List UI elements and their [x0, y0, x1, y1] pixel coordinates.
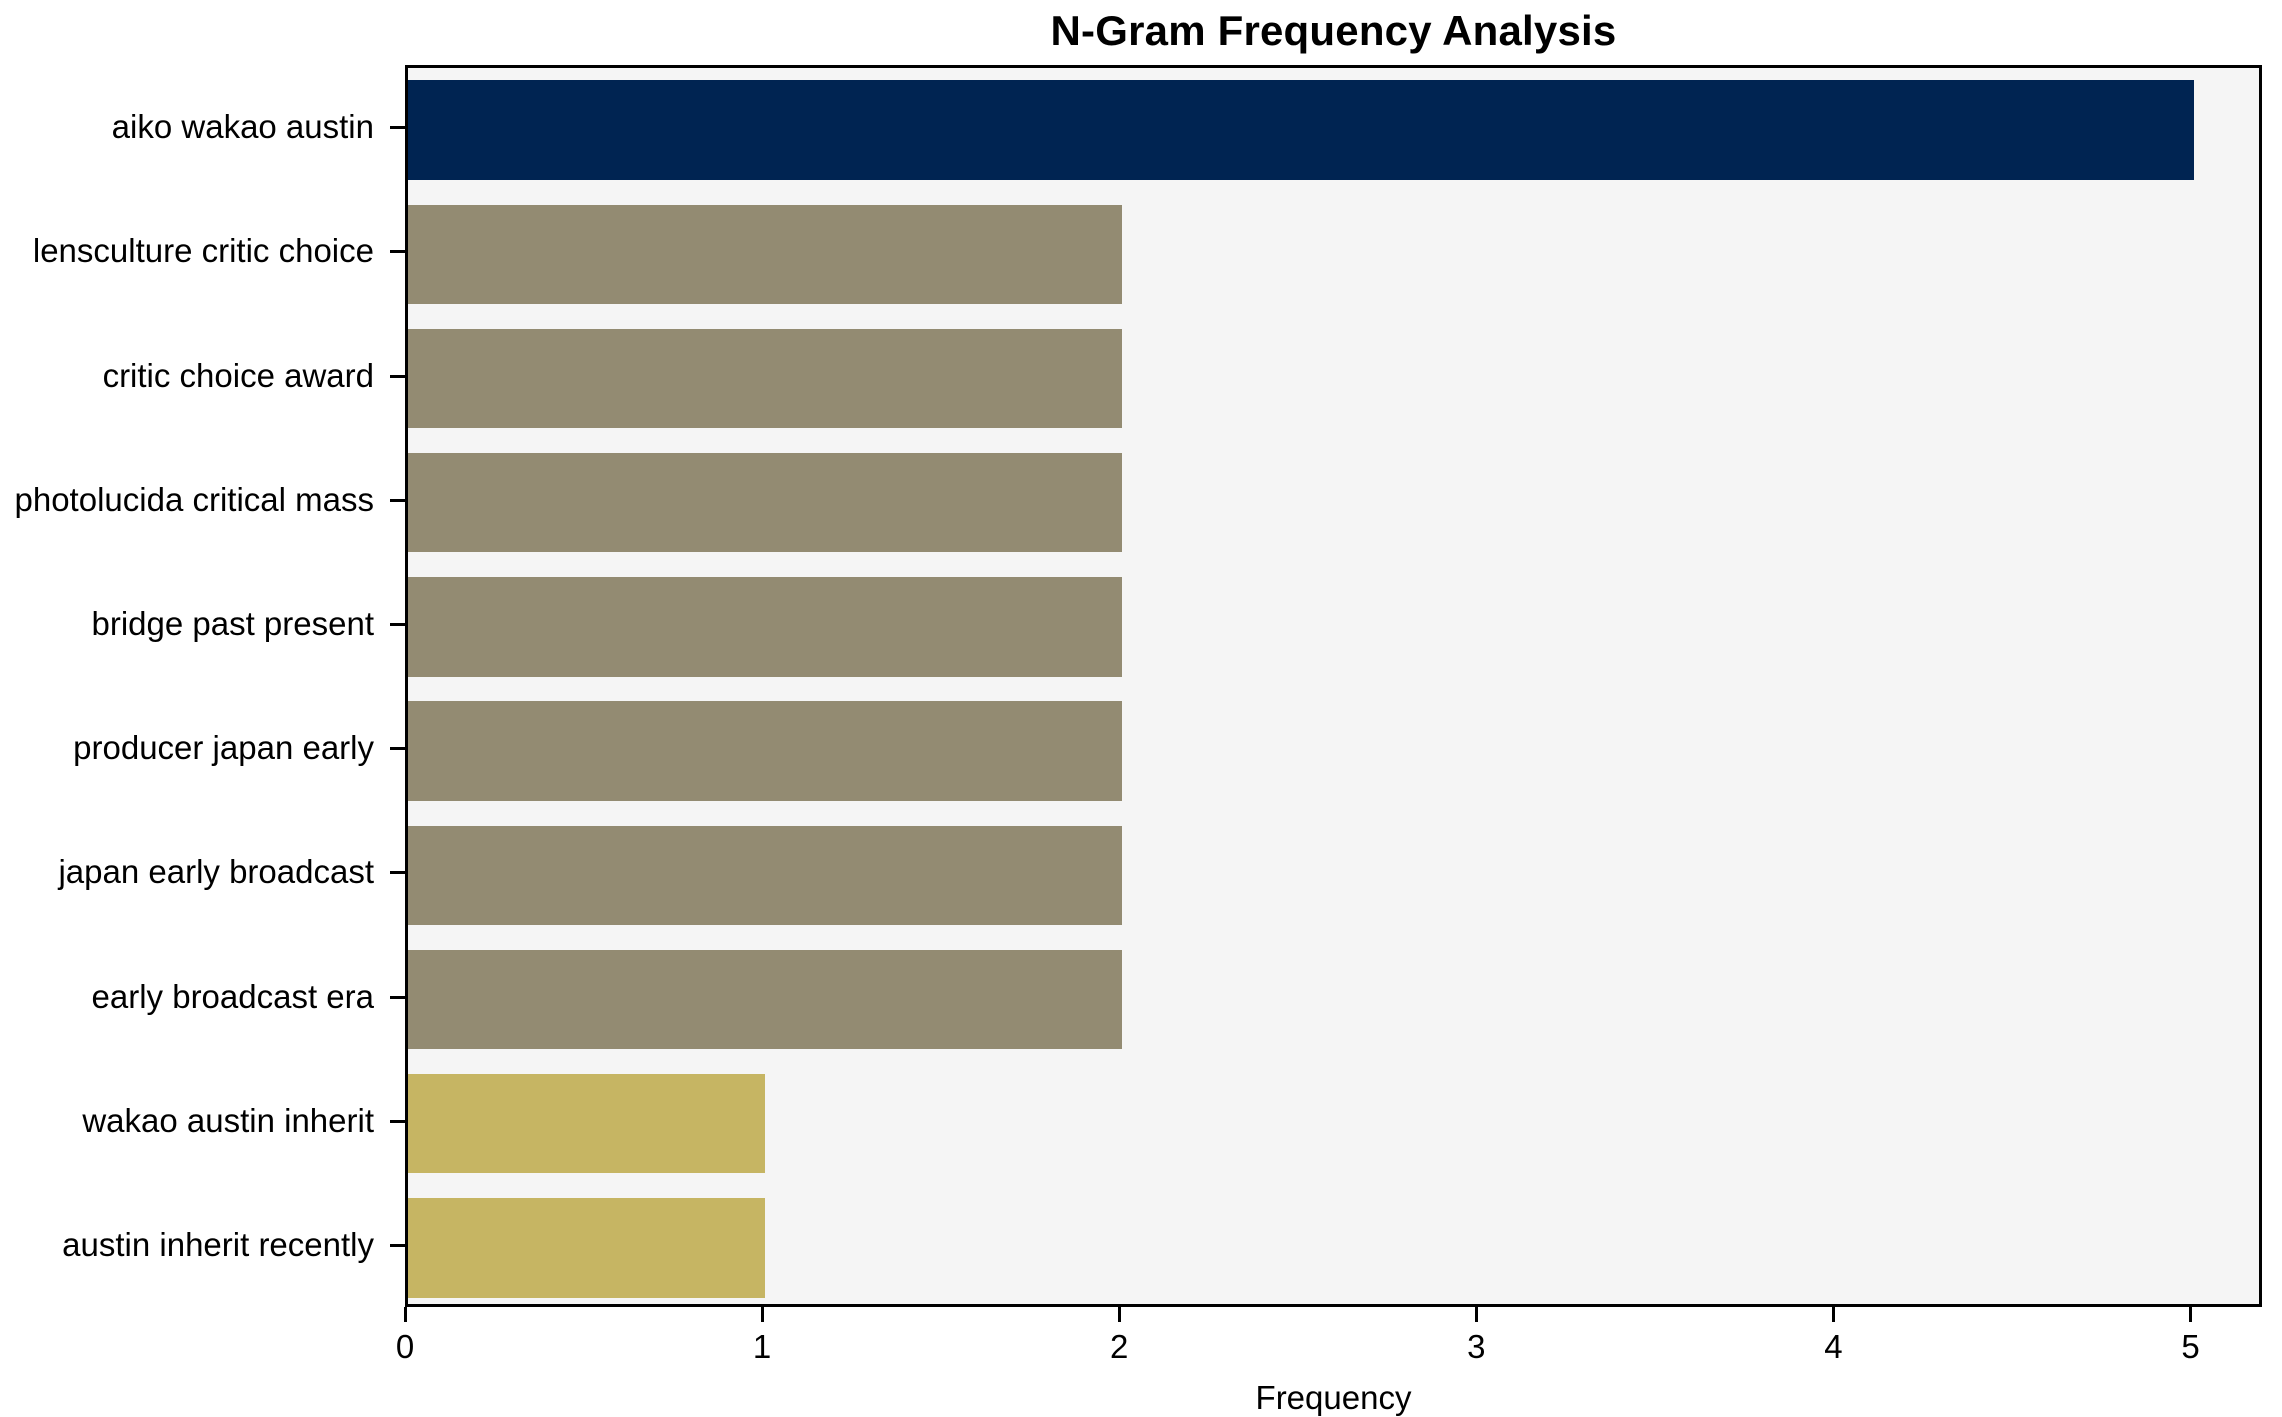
x-tick-label: 5	[2151, 1327, 2231, 1367]
y-tick-label: early broadcast era	[92, 978, 374, 1016]
y-tick-mark	[390, 250, 405, 253]
y-tick-label: wakao austin inherit	[82, 1102, 374, 1140]
y-tick-label: producer japan early	[73, 729, 374, 767]
y-tick-mark	[390, 996, 405, 999]
x-tick-label: 2	[1079, 1327, 1159, 1367]
x-tick-mark	[1832, 1307, 1835, 1322]
bar	[408, 80, 2194, 179]
x-tick-mark	[2189, 1307, 2192, 1322]
y-tick-mark	[390, 499, 405, 502]
y-tick-label: critic choice award	[103, 357, 374, 395]
y-tick-mark	[390, 747, 405, 750]
bars-layer	[408, 68, 2259, 1304]
x-axis-title: Frequency	[405, 1379, 2262, 1417]
y-tick-label: austin inherit recently	[62, 1226, 374, 1264]
bar	[408, 329, 1122, 428]
y-tick-label: photolucida critical mass	[15, 481, 375, 519]
bar	[408, 1074, 765, 1173]
bar	[408, 1198, 765, 1297]
x-tick-mark	[1475, 1307, 1478, 1322]
x-tick-mark	[404, 1307, 407, 1322]
x-tick-label: 4	[1793, 1327, 1873, 1367]
x-axis: Frequency 012345	[405, 1307, 2262, 1414]
y-tick-label: lensculture critic choice	[33, 232, 374, 270]
y-tick-label: bridge past present	[91, 605, 374, 643]
chart-figure: N-Gram Frequency Analysis aiko wakao aus…	[0, 0, 2282, 1414]
plot-area	[405, 65, 2262, 1307]
x-tick-label: 3	[1436, 1327, 1516, 1367]
y-tick-mark	[390, 623, 405, 626]
y-tick-mark	[390, 1120, 405, 1123]
y-tick-label: aiko wakao austin	[112, 108, 374, 146]
y-tick-label: japan early broadcast	[58, 853, 374, 891]
bar	[408, 701, 1122, 800]
bar	[408, 826, 1122, 925]
bar	[408, 950, 1122, 1049]
y-tick-mark	[390, 871, 405, 874]
bar	[408, 453, 1122, 552]
chart-title: N-Gram Frequency Analysis	[405, 6, 2262, 56]
bar	[408, 577, 1122, 676]
x-tick-mark	[1118, 1307, 1121, 1322]
y-tick-mark	[390, 1244, 405, 1247]
x-tick-mark	[761, 1307, 764, 1322]
y-tick-mark	[390, 126, 405, 129]
y-tick-mark	[390, 375, 405, 378]
x-tick-label: 1	[722, 1327, 802, 1367]
x-tick-label: 0	[365, 1327, 445, 1367]
y-axis: aiko wakao austinlensculture critic choi…	[0, 65, 405, 1307]
bar	[408, 205, 1122, 304]
